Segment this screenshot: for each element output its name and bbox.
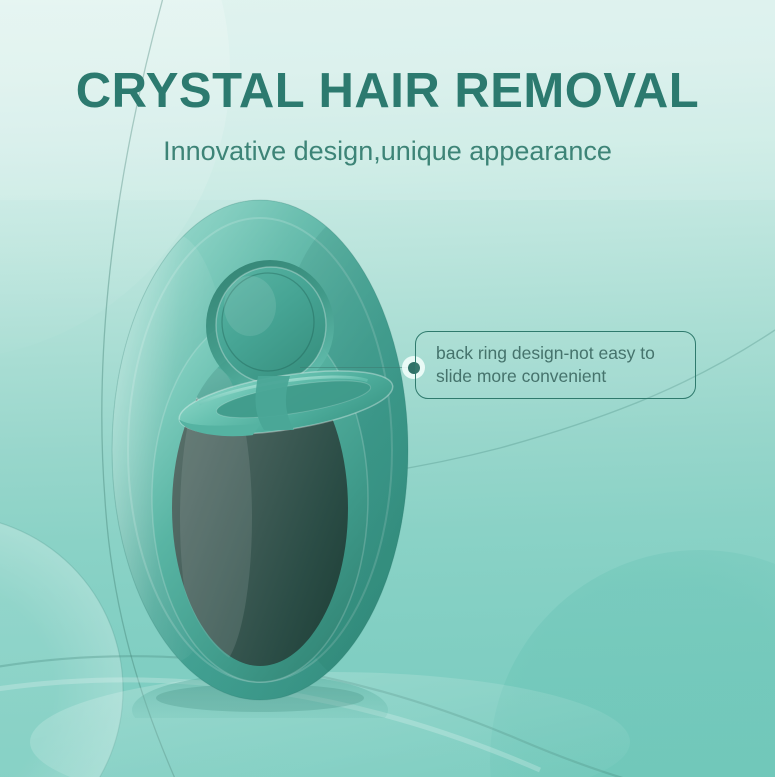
feature-callout-box: back ring design-not easy to slide more …	[415, 331, 696, 399]
decor-circle-lower-left-outline	[0, 515, 123, 777]
power-button-highlight	[224, 276, 276, 336]
product-poster: CRYSTAL HAIR REMOVAL Innovative design,u…	[0, 0, 775, 777]
page-subtitle: Innovative design,unique appearance	[0, 136, 775, 167]
page-title: CRYSTAL HAIR REMOVAL	[0, 66, 775, 117]
product-illustration	[108, 198, 438, 718]
decor-circle-lower-left	[0, 515, 123, 777]
callout-leader-line	[300, 367, 416, 368]
decor-circle-bottom-right	[490, 550, 775, 777]
callout-text-line-1: back ring design-not easy to	[436, 342, 695, 365]
product-image	[108, 198, 438, 718]
callout-text-line-2: slide more convenient	[436, 365, 695, 388]
